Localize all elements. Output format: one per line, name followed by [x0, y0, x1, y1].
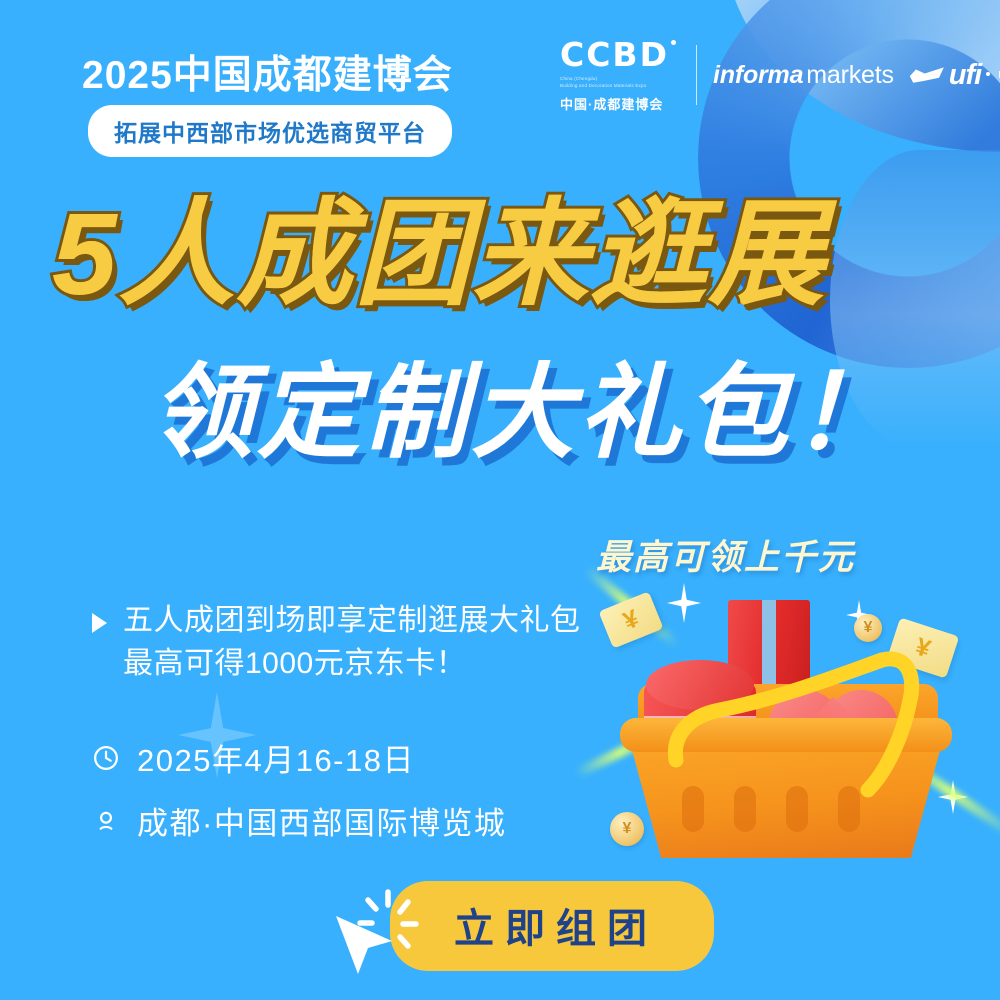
logo-group: CCBD China (Chengdu) Building and Decora…: [560, 38, 1000, 113]
coin-symbol-top: ¥: [864, 619, 873, 637]
informa-markets-logo: informamarkets: [713, 61, 894, 90]
poster-header: 2025中国成都建博会 拓展中西部市场优选商贸平台 CCBD China (Ch…: [0, 0, 1000, 160]
event-meta: 2025年4月16-18日 成都·中国西部国际博览城: [92, 735, 506, 861]
gift-basket-illustration: ¥ ¥ ¥ ¥: [586, 588, 986, 898]
ufi-member-logo: ufi Member: [910, 59, 1000, 92]
brand-title: 2025中国成都建博会: [82, 44, 453, 100]
basket-handle: [662, 640, 922, 806]
triangle-bullet-icon: [92, 613, 107, 633]
benefit-item: 五人成团到场即享定制逛展大礼包 最高可得1000元京东卡！: [92, 600, 612, 685]
ccbd-wordmark: CCBD: [560, 38, 680, 71]
ccbd-chinese-subtitle: 中国·成都建博会: [560, 94, 680, 113]
logo-divider: [696, 45, 697, 105]
informa-word: informa: [713, 61, 803, 90]
coupon-ticket-left: ¥: [598, 591, 663, 648]
event-location-text: 成都·中国西部国际博览城: [137, 798, 506, 843]
ccbd-english-subtitle: China (Chengdu) Building and Decoration …: [560, 76, 680, 90]
benefit-text: 五人成团到场即享定制逛展大礼包 最高可得1000元京东卡！: [123, 600, 581, 685]
location-pin-icon: [92, 807, 120, 835]
ccbd-dot-icon: [671, 40, 676, 45]
accent-tagline: 最高可领上千元: [596, 529, 855, 580]
poster-canvas: 2025中国成都建博会 拓展中西部市场优选商贸平台 CCBD China (Ch…: [0, 0, 1000, 1000]
event-location-row: 成都·中国西部国际博览城: [92, 798, 506, 843]
clock-icon: [92, 744, 120, 772]
markets-word: markets: [806, 61, 894, 90]
ufi-swoosh-icon: [910, 66, 944, 84]
headline-secondary: 领定制大礼包！: [150, 355, 1000, 470]
coupon-symbol-left: ¥: [619, 604, 643, 636]
event-date-text: 2025年4月16-18日: [137, 735, 415, 780]
click-cursor-icon: [330, 878, 426, 974]
benefit-line-2: 最高可得1000元京东卡！: [123, 647, 466, 680]
benefit-list: 五人成团到场即享定制逛展大礼包 最高可得1000元京东卡！: [92, 600, 612, 685]
coin-top-right: ¥: [854, 614, 882, 642]
ccbd-logo: CCBD China (Chengdu) Building and Decora…: [560, 38, 680, 113]
benefit-line-1: 五人成团到场即享定制逛展大礼包: [123, 604, 581, 637]
event-date-row: 2025年4月16-18日: [92, 735, 506, 780]
headline-primary: 5人成团来逛展 5人成团来逛展: [52, 190, 932, 320]
ufi-bullet-icon: [986, 72, 990, 76]
ufi-wordmark: ufi: [949, 59, 981, 92]
ccbd-wordmark-text: CCBD: [560, 35, 669, 74]
headline-primary-fill: 5人成团来逛展: [52, 190, 827, 320]
brand-tagline-pill: 拓展中西部市场优选商贸平台: [88, 105, 452, 157]
